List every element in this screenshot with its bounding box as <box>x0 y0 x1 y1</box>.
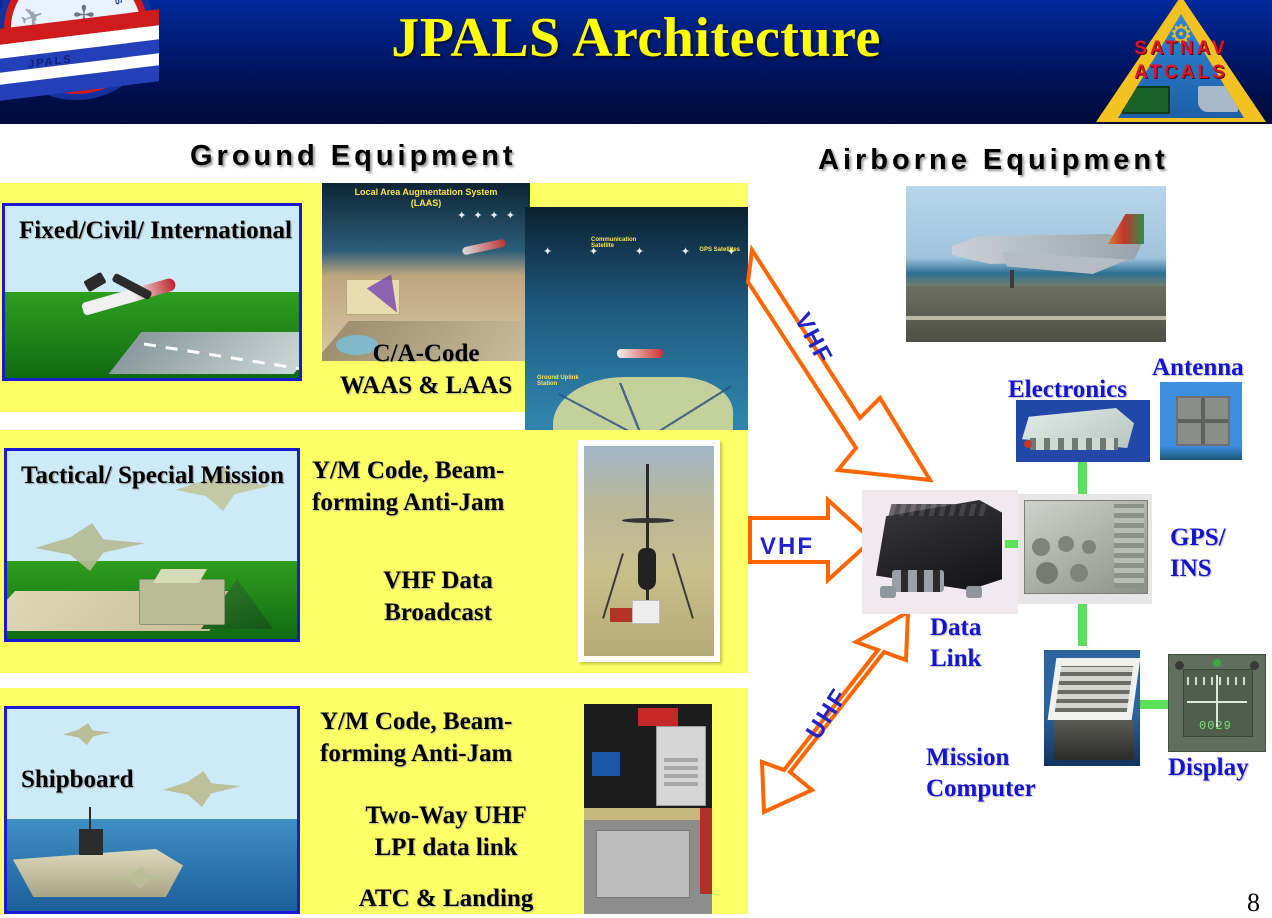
display-bezel-button-tr <box>1250 661 1259 670</box>
airliner-shape <box>81 280 177 306</box>
page-title: JPALS Architecture <box>0 6 1272 70</box>
section-title-airborne: Airborne Equipment <box>818 144 1169 177</box>
mission-computer-base-shape <box>1054 720 1134 760</box>
satnav-atcals-crest-logo: ⚙ SATNAV ATCALS <box>1096 0 1266 122</box>
arrow-label-vhf-horizontal: VHF <box>760 533 814 561</box>
military-vehicle-shape <box>139 579 225 625</box>
link-electronics-to-mission-computer <box>1078 462 1087 496</box>
gps-satellites-group: ✦✦✦✦ <box>457 209 522 222</box>
antenna-base-box <box>632 600 660 624</box>
label-display: Display <box>1168 752 1249 783</box>
ground-panel-shipboard: Shipboard Y/M Code, Beam- forming Anti-J… <box>0 688 748 914</box>
caption-fixed-civil: C/A-Code WAAS & LAAS <box>320 338 532 402</box>
illustration-label-fixed-civil: Fixed/Civil/ International <box>19 216 292 246</box>
antenna-red-case <box>610 608 632 622</box>
data-link-mount-tab-right <box>966 586 982 598</box>
fa18-landing-gear <box>1010 270 1014 288</box>
caption-shipboard-mid: Two-Way UHF LPI data link <box>320 800 572 864</box>
electronics-connectors <box>1030 438 1118 450</box>
arrow-vhf-diagonal <box>748 250 930 480</box>
carrier-mast-shape <box>89 807 91 833</box>
display-readout-value: 0029 <box>1199 719 1232 733</box>
photo-gps-ins-box <box>1018 494 1152 604</box>
helicopter-icon: ✈ <box>39 0 61 1</box>
display-bezel-indicator <box>1213 659 1221 667</box>
jpals-crest-logo: ✈ ✈ ✢ MARINES JPALS <box>0 0 159 127</box>
illustration-fixed-civil: Fixed/Civil/ International <box>2 203 302 381</box>
crest-word-satnav: SATNAV <box>1096 38 1266 60</box>
photo-ground-antenna-mast <box>578 440 720 662</box>
gps-ins-connector-4 <box>1036 562 1058 584</box>
section-title-ground: Ground Equipment <box>190 140 517 173</box>
gps-ins-heat-fins <box>1114 504 1144 588</box>
antenna-patch-grid <box>1176 396 1230 446</box>
photo-electronics-box <box>1016 400 1150 462</box>
gps-ins-connector-1 <box>1032 538 1050 556</box>
antenna-disc-shape <box>622 518 674 523</box>
carrier-deck-shape <box>906 286 1166 342</box>
photo-laas-diagram: Local Area Augmentation System(LAAS) ✦✦✦… <box>322 183 530 361</box>
deck-stripe <box>906 316 1166 320</box>
crest-ribbon: JPALS <box>0 20 159 92</box>
caption-shipboard-bottom: ATC & Landing <box>320 883 572 915</box>
rack-red-side-stripe <box>700 808 712 894</box>
laas-aircraft-shape <box>462 239 507 256</box>
illustration-label-tactical: Tactical/ Special Mission <box>21 461 284 491</box>
photo-fa18-carrier-launch <box>906 186 1166 342</box>
caption-shipboard-top: Y/M Code, Beam- forming Anti-Jam <box>320 706 572 770</box>
link-mission-computer-to-display <box>1140 700 1170 709</box>
label-data-link: Data Link <box>930 612 981 675</box>
photo-shipboard-equipment-rack <box>584 704 712 914</box>
photo-data-link-box <box>862 490 1018 614</box>
photo-antenna-array <box>1160 382 1242 460</box>
rack-blue-module <box>592 752 620 776</box>
laas-photo-title: Local Area Augmentation System(LAAS) <box>322 187 530 210</box>
rack-computer-keypad <box>664 754 698 786</box>
caption-tactical-bottom: VHF Data Broadcast <box>312 565 564 629</box>
mission-computer-cards <box>1055 666 1133 712</box>
display-bezel-button-tl <box>1175 661 1184 670</box>
electronics-red-indicator <box>1024 440 1032 448</box>
data-link-mount-tab-left <box>880 586 896 598</box>
data-link-connectors <box>892 570 944 592</box>
slide-header: JPALS Architecture ✈ ✈ ✢ MARINES JPALS ⚙… <box>0 0 1272 124</box>
gps-ins-connector-2 <box>1058 536 1074 552</box>
photo-mission-computer <box>1044 650 1140 766</box>
ground-panel-fixed-civil: Fixed/Civil/ International Local Area Au… <box>0 183 748 412</box>
rack-divider-bar <box>584 808 712 820</box>
label-gps-ins: GPS/ INS <box>1170 522 1226 585</box>
illustration-tactical: Tactical/ Special Mission <box>4 448 300 642</box>
gps-ins-connector-5 <box>1070 564 1088 582</box>
illustration-shipboard: Shipboard <box>4 706 300 914</box>
jet-icon-airborne-1 <box>63 723 111 745</box>
arrow-label-uhf-diagonal: UHF <box>801 683 855 745</box>
caption-tactical-top: Y/M Code, Beam- forming Anti-Jam <box>312 455 564 519</box>
crest-word-atcals: ATCALS <box>1096 62 1266 84</box>
label-antenna: Antenna <box>1152 352 1244 383</box>
data-link-top-ribs <box>889 504 988 516</box>
label-mission-computer: Mission Computer <box>926 742 1036 805</box>
carrier-island-shape <box>79 829 103 855</box>
link-gps-ins-to-mission-computer <box>1078 604 1087 646</box>
waas-satellite-label-2: GPS Satellites <box>699 247 740 253</box>
rack-lower-door <box>596 830 690 898</box>
jet-icon-airborne-2 <box>163 771 241 807</box>
waas-label-ground-uplink: Ground UplinkStation <box>537 375 579 387</box>
vehicle-antenna-shape <box>153 569 207 583</box>
display-scale-ticks <box>1187 677 1247 685</box>
ground-panel-tactical: Tactical/ Special Mission Y/M Code, Beam… <box>0 430 748 673</box>
gps-ins-connector-3 <box>1082 540 1096 554</box>
arrow-label-vhf-diagonal: VHF <box>788 309 838 370</box>
illustration-label-shipboard: Shipboard <box>21 765 134 795</box>
antenna-body-shape <box>638 548 656 590</box>
waas-aircraft-shape <box>617 349 663 358</box>
waas-satellite-label-1: CommunicationSatellite <box>591 237 636 249</box>
rack-red-panel <box>638 708 678 726</box>
photo-cockpit-display: 0029 <box>1168 654 1266 752</box>
link-data-link-to-gps-ins <box>1005 540 1019 548</box>
